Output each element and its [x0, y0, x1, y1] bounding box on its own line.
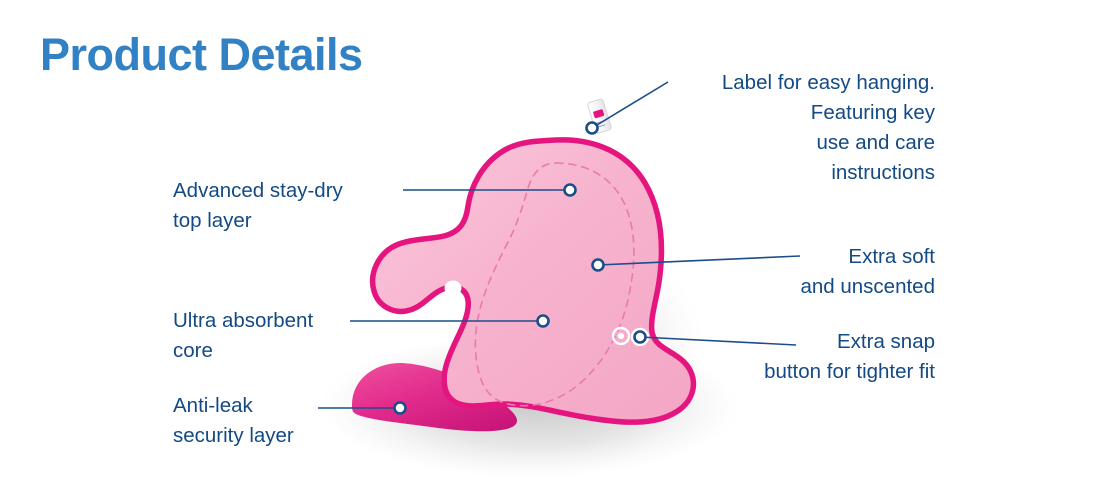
callout-extra-snap-button-for-tighter-fit: Extra snap button for tighter fit [595, 327, 935, 387]
wing-snap-dot [445, 281, 462, 296]
callout-extra-soft-and-unscented: Extra soft and unscented [615, 242, 935, 302]
product-details-infographic: Product Details Label for easy hanging. … [0, 0, 1095, 499]
callout-anti-leak-security-layer: Anti-leak security layer [173, 391, 453, 451]
page-title: Product Details [40, 30, 363, 80]
callout-label-for-easy-hanging: Label for easy hanging. Featuring key us… [645, 68, 935, 189]
callout-ultra-absorbent-core: Ultra absorbent core [173, 306, 433, 366]
hang-tag-icon [587, 98, 612, 133]
callout-advanced-stay-dry-top-layer: Advanced stay-dry top layer [173, 176, 473, 236]
